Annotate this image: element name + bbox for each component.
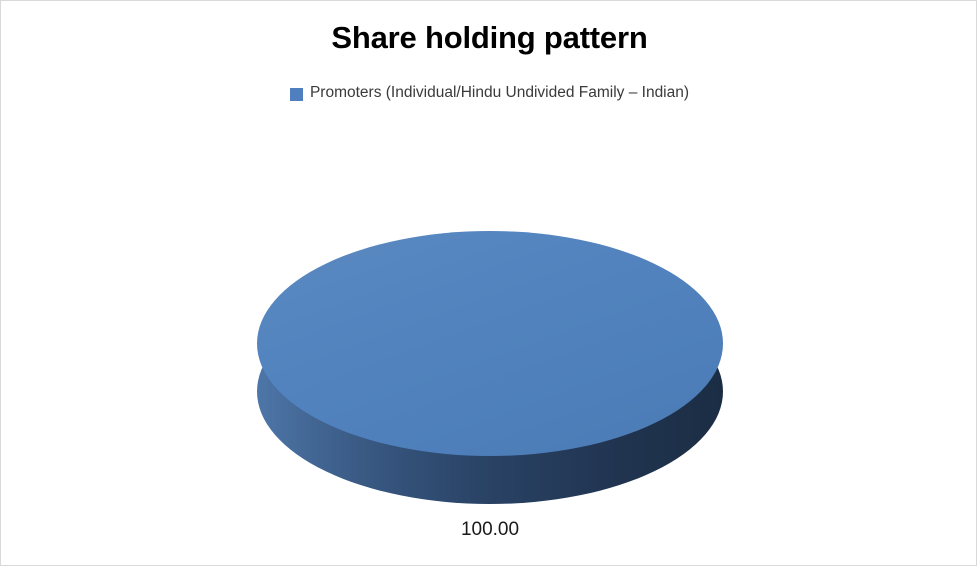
chart-title: Share holding pattern [1, 18, 977, 58]
pie-graphic [257, 231, 723, 504]
pie-slice-promoters[interactable] [257, 231, 723, 456]
pie-chart-container: Share holding pattern Promoters (Individ… [0, 0, 977, 566]
legend-item-label: Promoters (Individual/Hindu Undivided Fa… [310, 84, 689, 102]
legend-item-promoters[interactable]: Promoters (Individual/Hindu Undivided Fa… [290, 84, 689, 102]
chart-legend: Promoters (Individual/Hindu Undivided Fa… [1, 84, 977, 102]
legend-color-swatch-icon [290, 88, 303, 101]
pie-data-label: 100.00 [420, 518, 560, 542]
